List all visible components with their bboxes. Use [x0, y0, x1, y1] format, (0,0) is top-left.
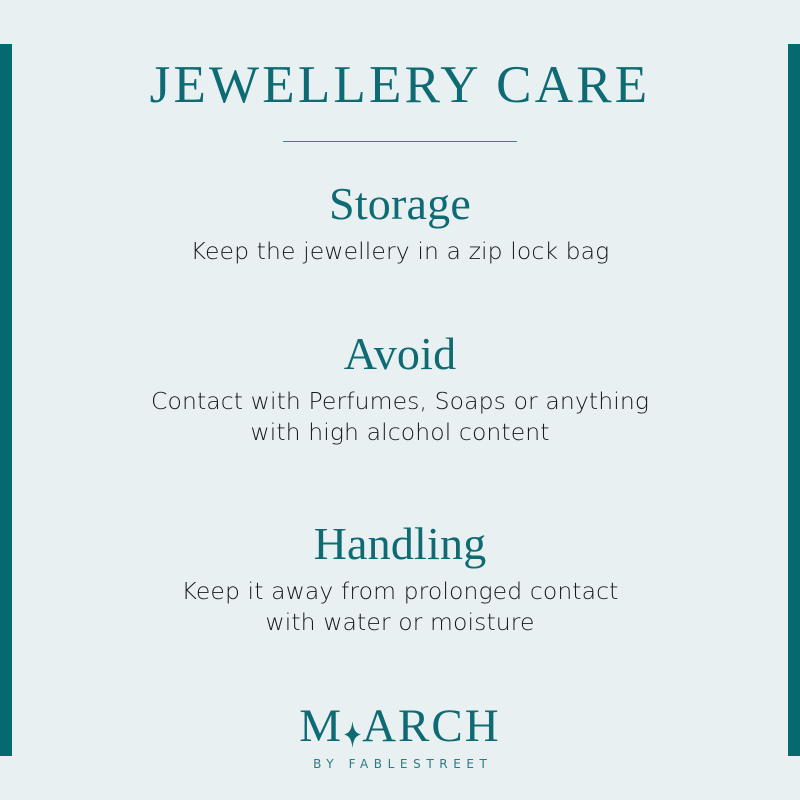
section-storage-body: Keep the jewellery in a zip lock bag: [0, 236, 800, 267]
section-handling-heading: Handling: [0, 518, 800, 570]
brand-logo: M ARCH BY FABLESTREET: [0, 704, 800, 771]
section-avoid: Avoid Contact with Perfumes, Soaps or an…: [0, 328, 800, 448]
four-point-star-icon: [344, 721, 361, 748]
jewellery-care-card: JEWELLERY CARE Storage Keep the jeweller…: [0, 0, 800, 800]
logo-wordmark: M ARCH: [299, 704, 500, 750]
section-handling-body: Keep it away from prolonged contact with…: [0, 576, 800, 639]
body-line: Keep the jewellery in a zip lock bag: [0, 236, 800, 267]
section-storage: Storage Keep the jewellery in a zip lock…: [0, 178, 800, 267]
section-avoid-body: Contact with Perfumes, Soaps or anything…: [0, 386, 800, 449]
title-divider: [283, 141, 517, 142]
body-line: Contact with Perfumes, Soaps or anything: [0, 386, 800, 417]
section-storage-heading: Storage: [0, 178, 800, 230]
body-line: with high alcohol content: [0, 417, 800, 448]
body-line: with water or moisture: [0, 607, 800, 638]
section-avoid-heading: Avoid: [0, 328, 800, 380]
page-title: JEWELLERY CARE: [0, 58, 800, 114]
logo-letters-arch: ARCH: [362, 703, 501, 750]
logo-letter-m: M: [299, 703, 343, 750]
section-handling: Handling Keep it away from prolonged con…: [0, 518, 800, 638]
body-line: Keep it away from prolonged contact: [0, 576, 800, 607]
logo-tagline: BY FABLESTREET: [0, 757, 800, 771]
